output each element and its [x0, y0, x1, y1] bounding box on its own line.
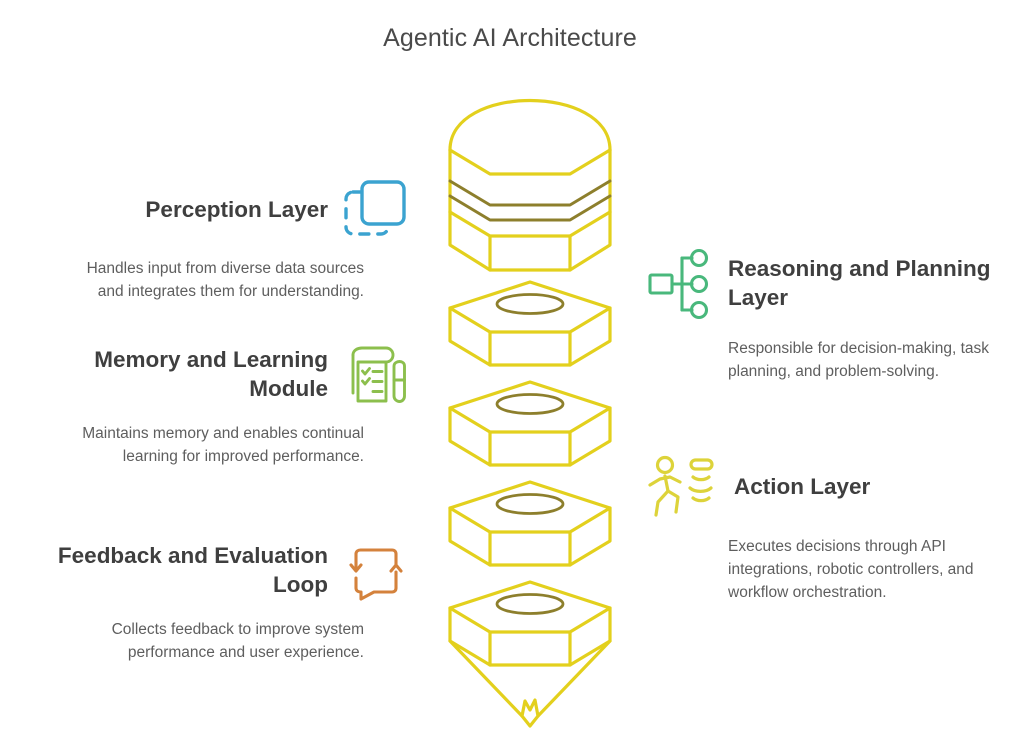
diagram-canvas: Agentic AI Architecture — [0, 0, 1020, 744]
dashed-square-icon — [342, 176, 410, 244]
action-title: Action Layer — [734, 473, 870, 502]
action-head-row: Action Layer — [648, 452, 1000, 522]
action-description: Executes decisions through API integrati… — [728, 536, 996, 605]
feedback-title: Feedback and Evaluation Loop — [28, 542, 328, 600]
perception-head-row: Perception Layer — [20, 176, 410, 244]
perception-description: Handles input from diverse data sources … — [64, 258, 364, 304]
memory-description: Maintains memory and enables continual l… — [54, 423, 364, 469]
block-action: Action Layer Executes decisions through … — [648, 452, 1000, 605]
reasoning-description: Responsible for decision-making, task pl… — [728, 338, 996, 384]
checklist-pen-icon — [342, 341, 410, 409]
reasoning-title: Reasoning and Planning Layer — [728, 255, 1000, 313]
memory-head-row: Memory and Learning Module — [20, 341, 410, 409]
block-memory: Memory and Learning Module — [20, 341, 410, 469]
memory-title: Memory and Learning Module — [20, 346, 328, 404]
speech-loop-icon — [342, 537, 410, 605]
block-reasoning: Reasoning and Planning Layer Responsible… — [648, 244, 1000, 384]
perception-title: Perception Layer — [28, 196, 328, 225]
hierarchy-branch-icon — [648, 244, 712, 324]
feedback-description: Collects feedback to improve system perf… — [64, 619, 364, 665]
block-feedback: Feedback and Evaluation Loop Collects fe… — [20, 537, 410, 665]
page-title: Agentic AI Architecture — [0, 24, 1020, 53]
feedback-head-row: Feedback and Evaluation Loop — [20, 537, 410, 605]
running-person-icon — [648, 452, 718, 522]
block-perception: Perception Layer Handles input from dive… — [20, 176, 410, 304]
reasoning-head-row: Reasoning and Planning Layer — [648, 244, 1000, 324]
layered-hexagonal-stack — [430, 78, 630, 728]
